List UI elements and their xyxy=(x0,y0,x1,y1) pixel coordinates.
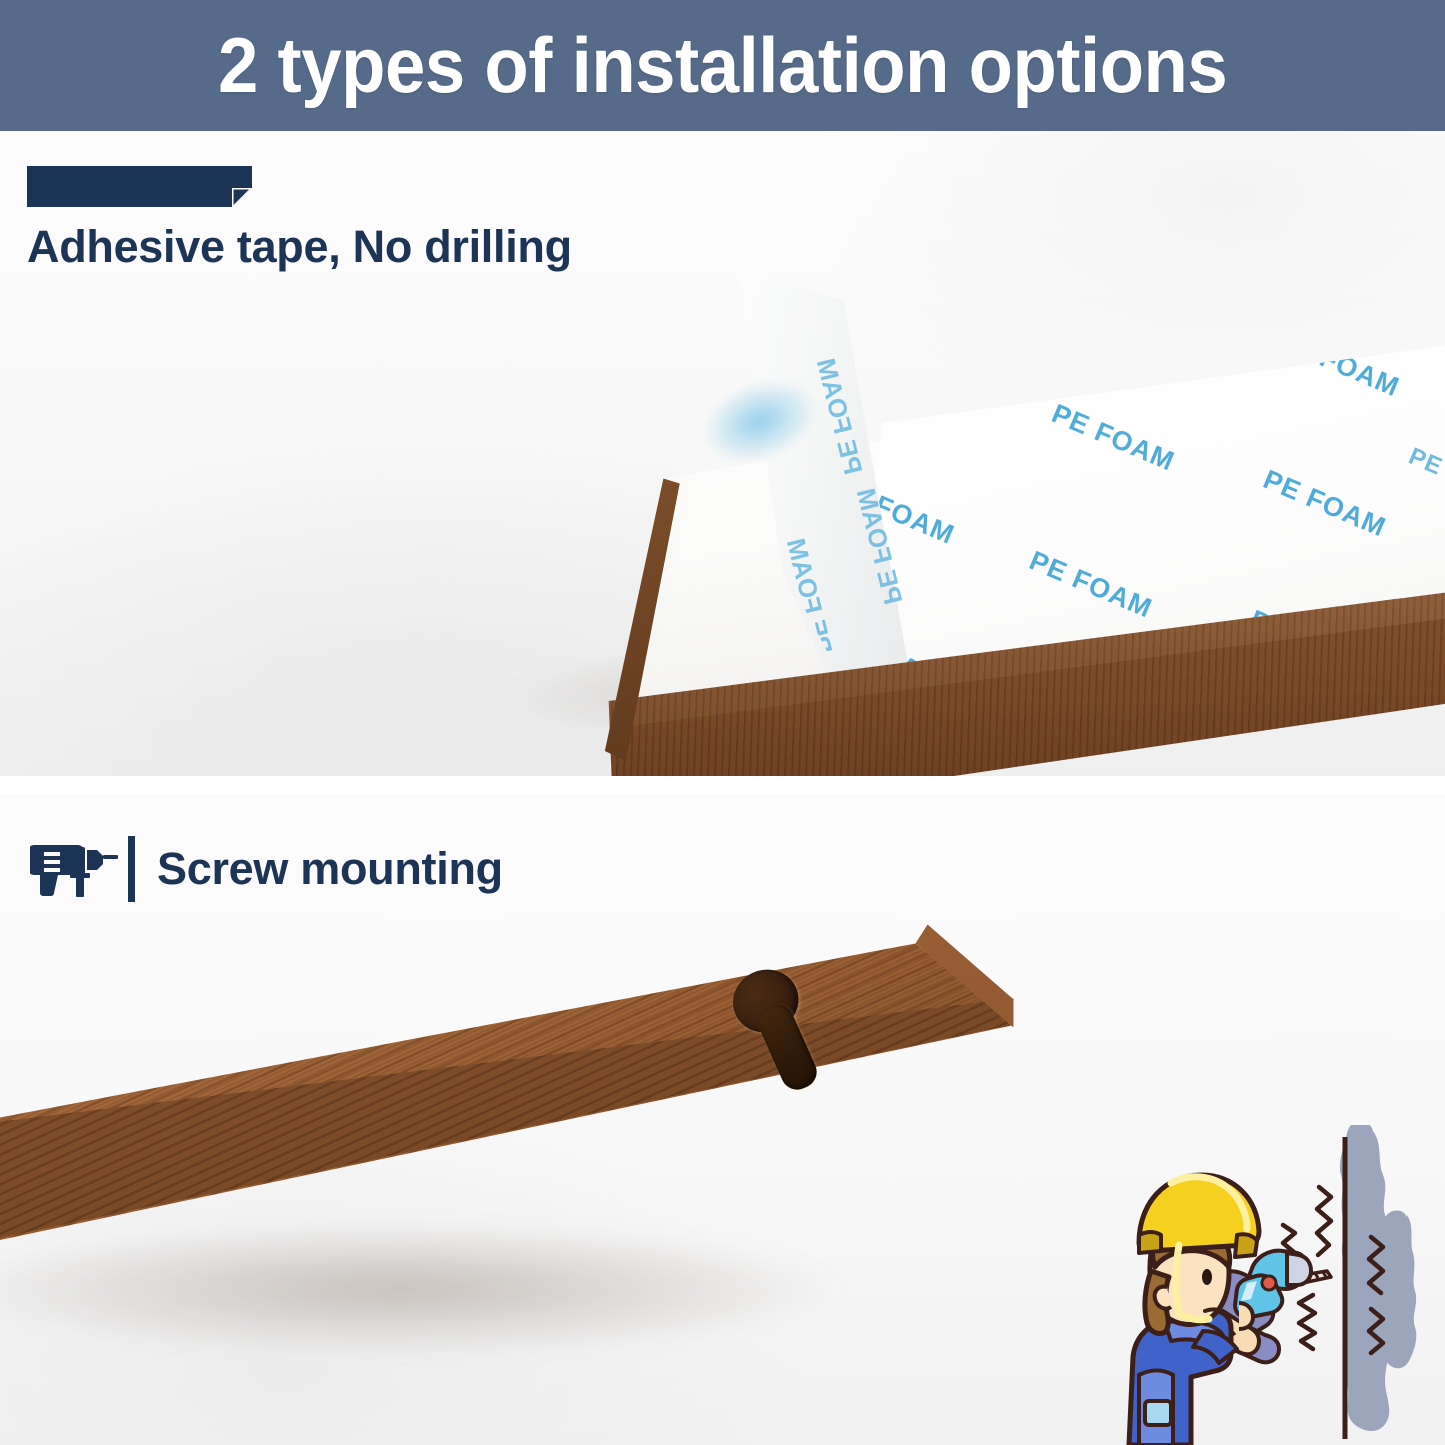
pe-foam-label: PE xyxy=(1404,443,1445,482)
pe-foam-label-mirrored: PE FOAM xyxy=(810,355,869,477)
keyhole-channel xyxy=(753,1000,822,1095)
wall-shape xyxy=(1340,1125,1416,1439)
pe-foam-label: PE FOAM xyxy=(1272,343,1404,403)
adhesive-label-block: Adhesive tape, No drilling xyxy=(27,166,572,273)
adhesive-tape-icon xyxy=(27,166,252,207)
label-divider xyxy=(128,836,135,902)
pe-foam-label: PE FOAM xyxy=(1025,545,1157,624)
screw-label-block: Screw mounting xyxy=(30,836,503,902)
screw-label-text: Screw mounting xyxy=(157,843,503,895)
panel-separator xyxy=(0,776,1445,794)
header-banner: 2 types of installation options xyxy=(0,0,1445,131)
worker-drilling-illustration xyxy=(1055,1125,1445,1445)
adhesive-label-text: Adhesive tape, No drilling xyxy=(27,221,572,273)
power-drill-icon xyxy=(30,837,122,901)
pe-foam-label: PE FOAM xyxy=(1259,464,1391,543)
page-title: 2 types of installation options xyxy=(218,20,1227,111)
body-jacket xyxy=(1129,1311,1237,1445)
pe-foam-label: PE FOAM xyxy=(1047,398,1179,477)
panel-screw-mounting: Screw mounting xyxy=(0,794,1445,1445)
panel-adhesive-tape: PE FOAMPE FOAMPE FOAMPE FOAMPE FOAMPE FO… xyxy=(0,131,1445,776)
board-drop-shadow xyxy=(0,1194,1090,1384)
